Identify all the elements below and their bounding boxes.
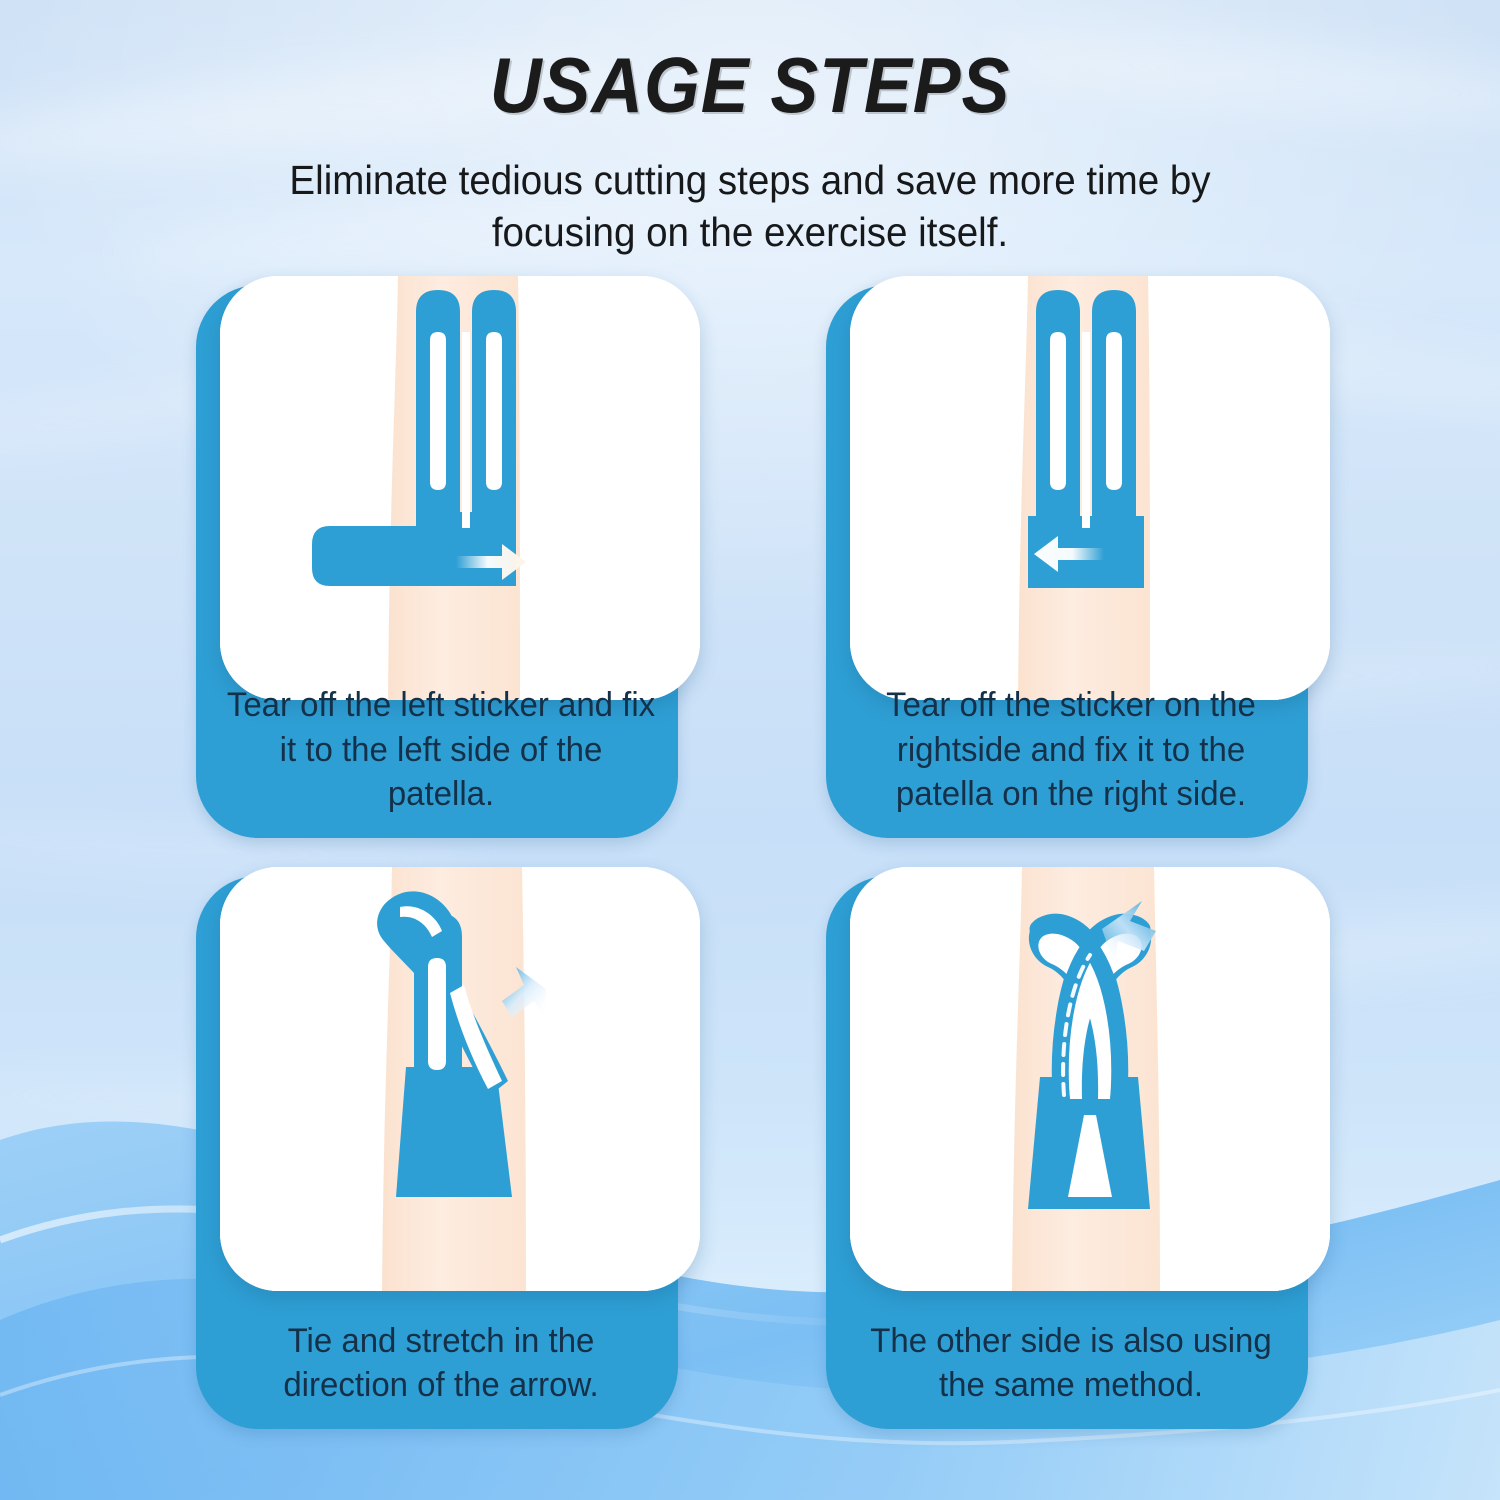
step-illustration-3 <box>220 867 700 1291</box>
step-card-2[interactable]: Tear off the sticker on the rightside an… <box>826 285 1308 838</box>
step-caption-4: The other side is also using the same me… <box>853 1319 1290 1407</box>
step-caption-1: Tear off the left sticker and fix it to … <box>223 683 660 816</box>
step-illustration-1 <box>220 276 700 700</box>
step-illustration-4 <box>850 867 1330 1291</box>
step-card-4[interactable]: The other side is also using the same me… <box>826 876 1308 1429</box>
step-caption-3: Tie and stretch in the direction of the … <box>223 1319 660 1407</box>
page-title: USAGE STEPS <box>60 0 1440 124</box>
step-card-3[interactable]: Tie and stretch in the direction of the … <box>196 876 678 1429</box>
page-header: USAGE STEPS Eliminate tedious cutting st… <box>0 0 1500 258</box>
step-illustration-2 <box>850 276 1330 700</box>
step-card-1[interactable]: Tear off the left sticker and fix it to … <box>196 285 678 838</box>
step-caption-2: Tear off the sticker on the rightside an… <box>853 683 1290 816</box>
usage-steps-grid: Tear off the left sticker and fix it to … <box>196 285 1316 1429</box>
page-subtitle: Eliminate tedious cutting steps and save… <box>275 154 1224 258</box>
